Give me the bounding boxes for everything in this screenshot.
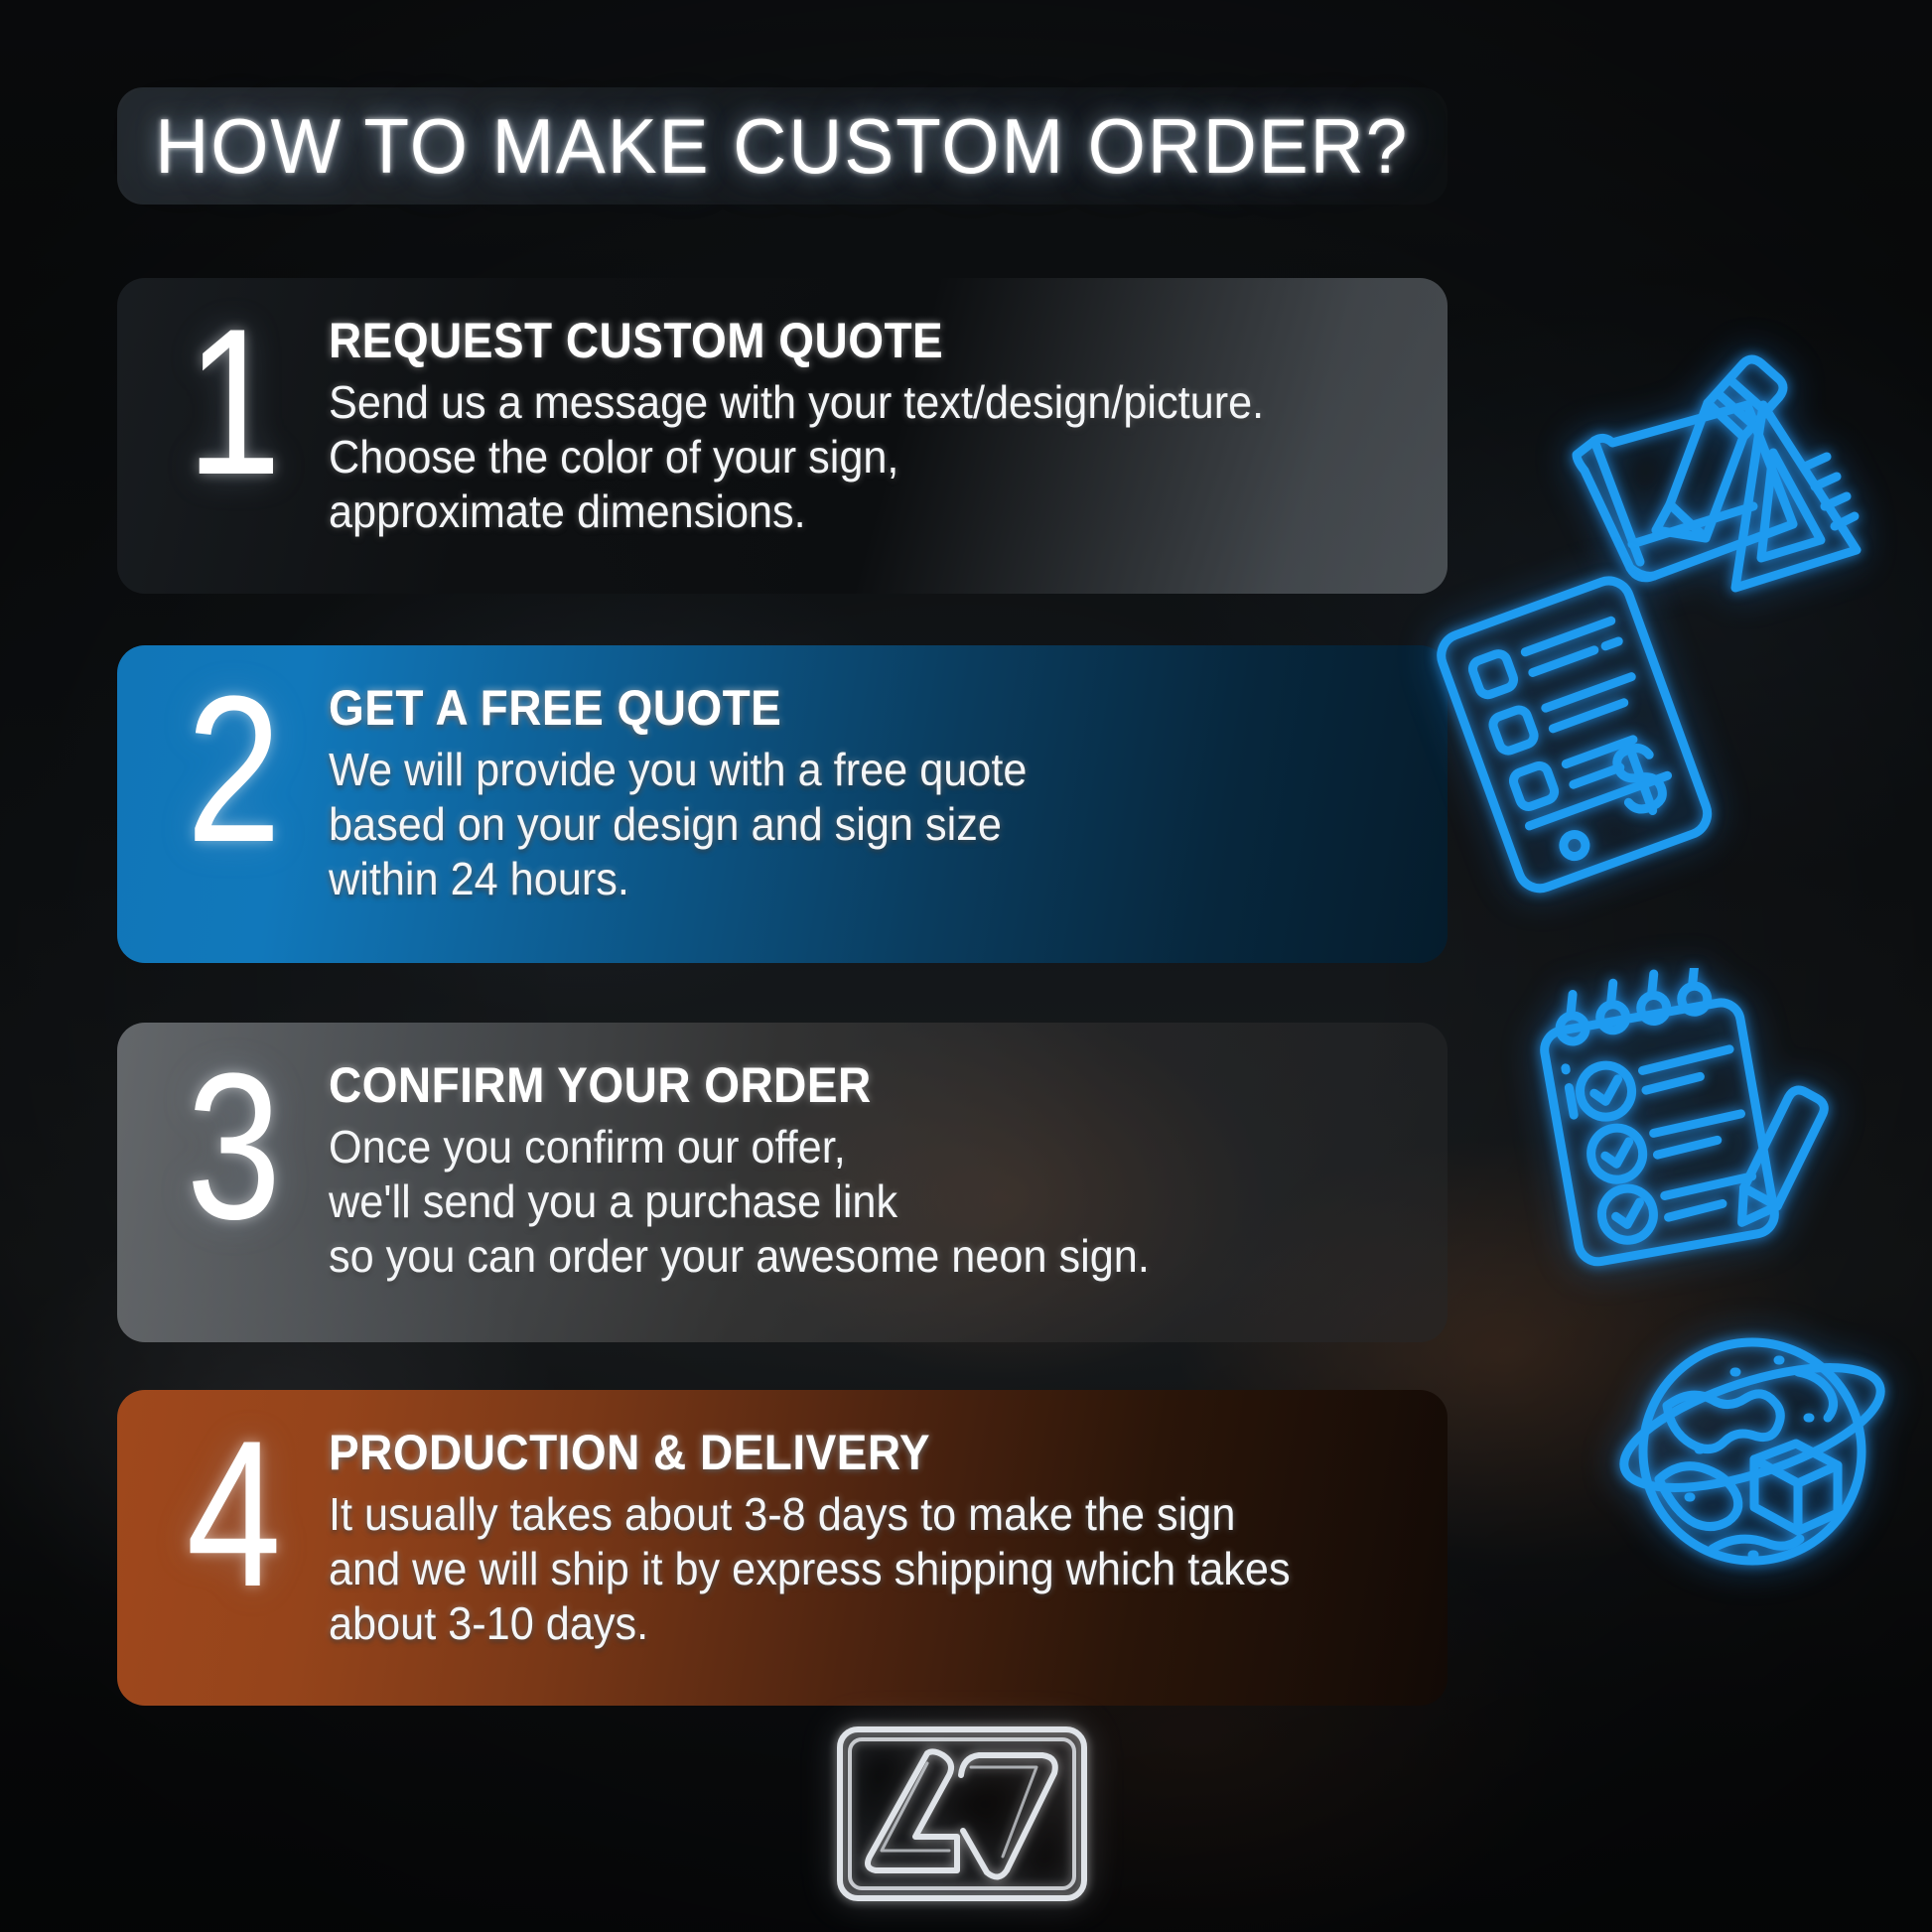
step-description-3: Once you confirm our offer, we'll send y… <box>329 1120 1352 1285</box>
invoice-dollar-icon <box>1420 576 1747 903</box>
step-card-4: 4 PRODUCTION & DELIVERY It usually takes… <box>117 1390 1448 1706</box>
step-heading-2: GET A FREE QUOTE <box>329 679 1330 737</box>
step-3-line-2: we'll send you a purchase link <box>329 1174 1352 1229</box>
step-heading-3: CONFIRM YOUR ORDER <box>329 1056 1330 1114</box>
step-4-line-3: about 3-10 days. <box>329 1596 1352 1651</box>
step-content-2: GET A FREE QUOTE We will provide you wit… <box>321 667 1418 907</box>
infographic-page: HOW TO MAKE CUSTOM ORDER? 1 REQUEST CUST… <box>0 0 1932 1932</box>
step-3-line-3: so you can order your awesome neon sign. <box>329 1229 1352 1284</box>
page-title-bar: HOW TO MAKE CUSTOM ORDER? <box>117 87 1448 205</box>
globe-shipping-icon <box>1603 1311 1901 1588</box>
step-card-2: 2 GET A FREE QUOTE We will provide you w… <box>117 645 1448 963</box>
step-2-line-2: based on your design and sign size <box>329 797 1352 852</box>
step-2-line-1: We will provide you with a free quote <box>329 743 1352 797</box>
step-description-1: Send us a message with your text/design/… <box>329 375 1352 540</box>
step-3-line-1: Once you confirm our offer, <box>329 1120 1352 1174</box>
pencil-paper-ruler-icon <box>1559 345 1876 623</box>
step-number-2: 2 <box>163 667 306 872</box>
step-description-4: It usually takes about 3-8 days to make … <box>329 1487 1352 1652</box>
step-description-2: We will provide you with a free quote ba… <box>329 743 1352 907</box>
step-card-3: 3 CONFIRM YOUR ORDER Once you confirm ou… <box>117 1023 1448 1342</box>
step-4-line-1: It usually takes about 3-8 days to make … <box>329 1487 1352 1542</box>
checklist-pencil-icon <box>1519 968 1837 1276</box>
step-1-line-1: Send us a message with your text/design/… <box>329 375 1352 430</box>
step-content-1: REQUEST CUSTOM QUOTE Send us a message w… <box>321 300 1418 540</box>
step-heading-4: PRODUCTION & DELIVERY <box>329 1424 1330 1481</box>
step-2-line-3: within 24 hours. <box>329 852 1352 906</box>
step-1-line-3: approximate dimensions. <box>329 484 1352 539</box>
step-number-1: 1 <box>163 300 306 504</box>
neon-ln-monogram-logo <box>832 1720 1092 1908</box>
step-number-4: 4 <box>163 1412 306 1616</box>
step-content-4: PRODUCTION & DELIVERY It usually takes a… <box>321 1412 1418 1652</box>
step-heading-1: REQUEST CUSTOM QUOTE <box>329 312 1330 369</box>
step-card-1: 1 REQUEST CUSTOM QUOTE Send us a message… <box>117 278 1448 594</box>
step-1-line-2: Choose the color of your sign, <box>329 430 1352 484</box>
step-number-3: 3 <box>163 1044 306 1249</box>
step-content-3: CONFIRM YOUR ORDER Once you confirm our … <box>321 1044 1418 1285</box>
step-4-line-2: and we will ship it by express shipping … <box>329 1542 1352 1596</box>
page-title: HOW TO MAKE CUSTOM ORDER? <box>156 101 1410 192</box>
